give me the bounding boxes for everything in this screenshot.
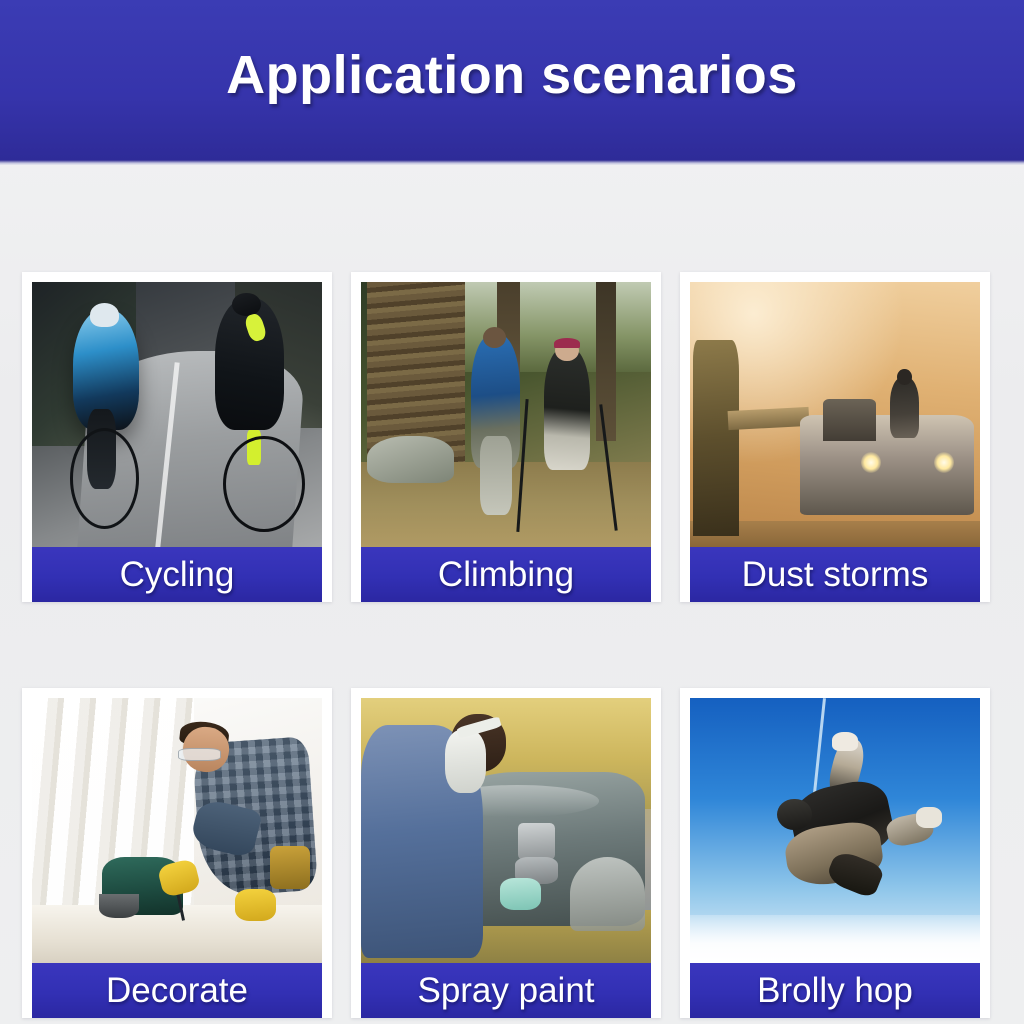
scenario-card[interactable]: Cycling [22,272,332,602]
scenario-card-media: Brolly hop [690,698,980,1018]
scenario-label-bar: Dust storms [690,547,980,602]
banner-divider [0,160,1024,165]
decorate-photo [32,698,322,963]
scenario-label-text: Cycling [120,555,235,595]
scenario-label-bar: Brolly hop [690,963,980,1018]
scenario-label-bar: Decorate [32,963,322,1018]
scenario-label-text: Brolly hop [757,971,913,1011]
scenario-label-text: Spray paint [417,971,594,1011]
scenario-label-text: Climbing [438,555,574,595]
spray-paint-photo [361,698,651,963]
scenario-card[interactable]: Decorate [22,688,332,1018]
dust-storms-photo [690,282,980,547]
scenario-grid: Cycling [22,272,1002,1018]
scenario-card[interactable]: Spray paint [351,688,661,1018]
scenario-card-media: Dust storms [690,282,980,602]
brolly-hop-photo [690,698,980,963]
cycling-photo [32,282,322,547]
climbing-photo [361,282,651,547]
page-title: Application scenarios [226,44,798,106]
scenario-card-media: Cycling [32,282,322,602]
scenario-label-bar: Cycling [32,547,322,602]
scenario-label-bar: Spray paint [361,963,651,1018]
header-banner: Application scenarios [0,0,1024,160]
scenario-card[interactable]: Dust storms [680,272,990,602]
scenario-card-media: Climbing [361,282,651,602]
scenario-card-media: Decorate [32,698,322,1018]
scenario-card[interactable]: Brolly hop [680,688,990,1018]
scenario-label-text: Decorate [106,971,248,1011]
scenario-card-media: Spray paint [361,698,651,1018]
scenario-label-text: Dust storms [742,555,929,595]
scenario-label-bar: Climbing [361,547,651,602]
scenario-card[interactable]: Climbing [351,272,661,602]
application-scenarios-page: Application scenarios [0,0,1024,1024]
